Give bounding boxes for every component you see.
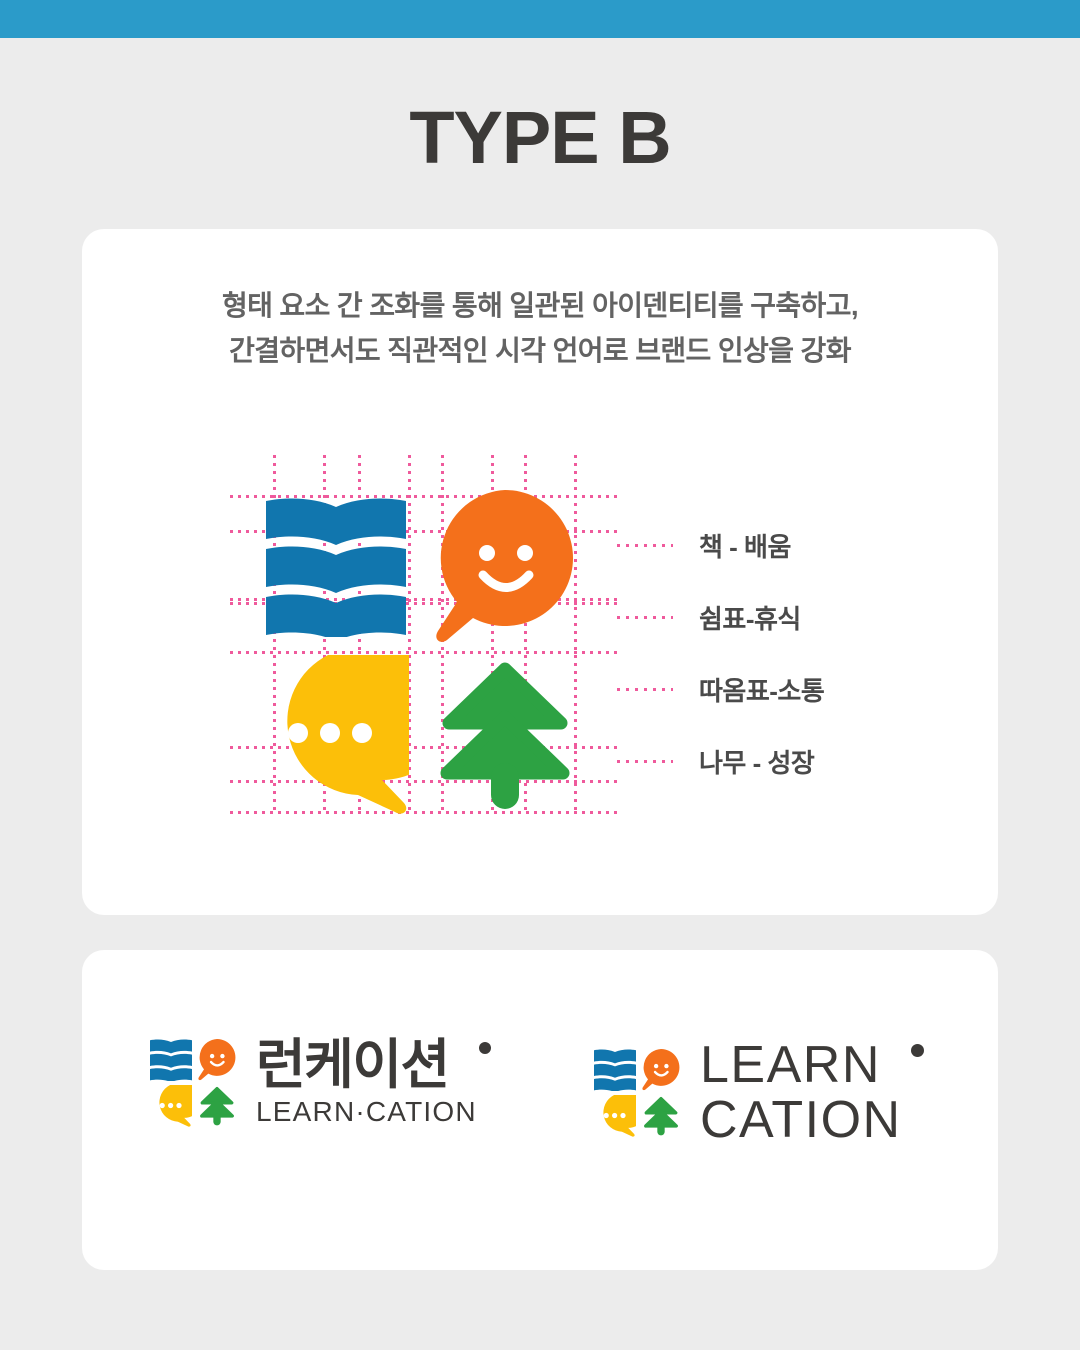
logo-dot-accent-icon <box>479 1042 491 1054</box>
logo-mark-smile-icon <box>640 1049 682 1091</box>
legend-item: 쉼표-휴식 <box>617 581 957 653</box>
logo-mark-smile-icon <box>196 1039 238 1081</box>
concept-description: 형태 요소 간 조화를 통해 일관된 아이덴티티를 구축하고, 간결하면서도 직… <box>82 283 998 374</box>
logo-dot-accent-icon <box>911 1044 924 1057</box>
logo-primary-lockup: 런케이션 LEARN·CATION <box>150 1038 477 1128</box>
top-accent-bar <box>0 0 1080 38</box>
icon-smile-speech-bubble <box>435 490 575 645</box>
logo-mark-tree-icon <box>640 1095 682 1137</box>
logo-primary-wordmark: 런케이션 LEARN·CATION <box>256 1038 477 1128</box>
page-title: TYPE B <box>0 101 1080 175</box>
logo-english-subtitle: LEARN·CATION <box>256 1097 477 1128</box>
logo-mark-chat-icon <box>594 1095 636 1137</box>
legend-item: 책 - 배움 <box>617 509 957 581</box>
logo-secondary-lockup: LEARN CATION <box>594 1038 902 1148</box>
icon-tree <box>435 655 575 815</box>
legend-dash-icon <box>617 688 673 691</box>
logo-card: 런케이션 LEARN·CATION <box>82 950 998 1270</box>
logo-mark-book-icon <box>150 1039 192 1081</box>
legend-dash-icon <box>617 616 673 619</box>
logo-mark <box>594 1049 682 1137</box>
logo-mark-chat-icon <box>150 1085 192 1127</box>
logo-korean-text: 런케이션 <box>256 1035 449 1095</box>
legend-item-label: 따옴표-소통 <box>699 671 824 708</box>
icon-showcase <box>230 455 622 815</box>
icon-dots-speech-bubble <box>254 655 409 815</box>
legend: 책 - 배움 쉼표-휴식 따옴표-소통 나무 - 성장 <box>617 509 957 797</box>
legend-dash-icon <box>617 544 673 547</box>
icon-book <box>266 497 406 637</box>
logo-english-line-1-text: LEARN <box>700 1036 881 1094</box>
logo-english-line-2: CATION <box>700 1093 902 1148</box>
poster-canvas: TYPE B 형태 요소 간 조화를 통해 일관된 아이덴티티를 구축하고, 간… <box>0 0 1080 1350</box>
legend-item: 나무 - 성장 <box>617 725 957 797</box>
logo-mark <box>150 1039 238 1127</box>
logo-english-line-1: LEARN <box>700 1038 902 1093</box>
logo-mark-tree-icon <box>196 1085 238 1127</box>
logo-secondary-wordmark: LEARN CATION <box>700 1038 902 1148</box>
legend-item-label: 쉼표-휴식 <box>699 599 801 636</box>
legend-item: 따옴표-소통 <box>617 653 957 725</box>
legend-item-label: 책 - 배움 <box>699 527 791 564</box>
logo-korean-name: 런케이션 <box>256 1038 477 1093</box>
concept-card: 형태 요소 간 조화를 통해 일관된 아이덴티티를 구축하고, 간결하면서도 직… <box>82 229 998 915</box>
legend-dash-icon <box>617 760 673 763</box>
legend-item-label: 나무 - 성장 <box>699 743 814 780</box>
logo-mark-book-icon <box>594 1049 636 1091</box>
